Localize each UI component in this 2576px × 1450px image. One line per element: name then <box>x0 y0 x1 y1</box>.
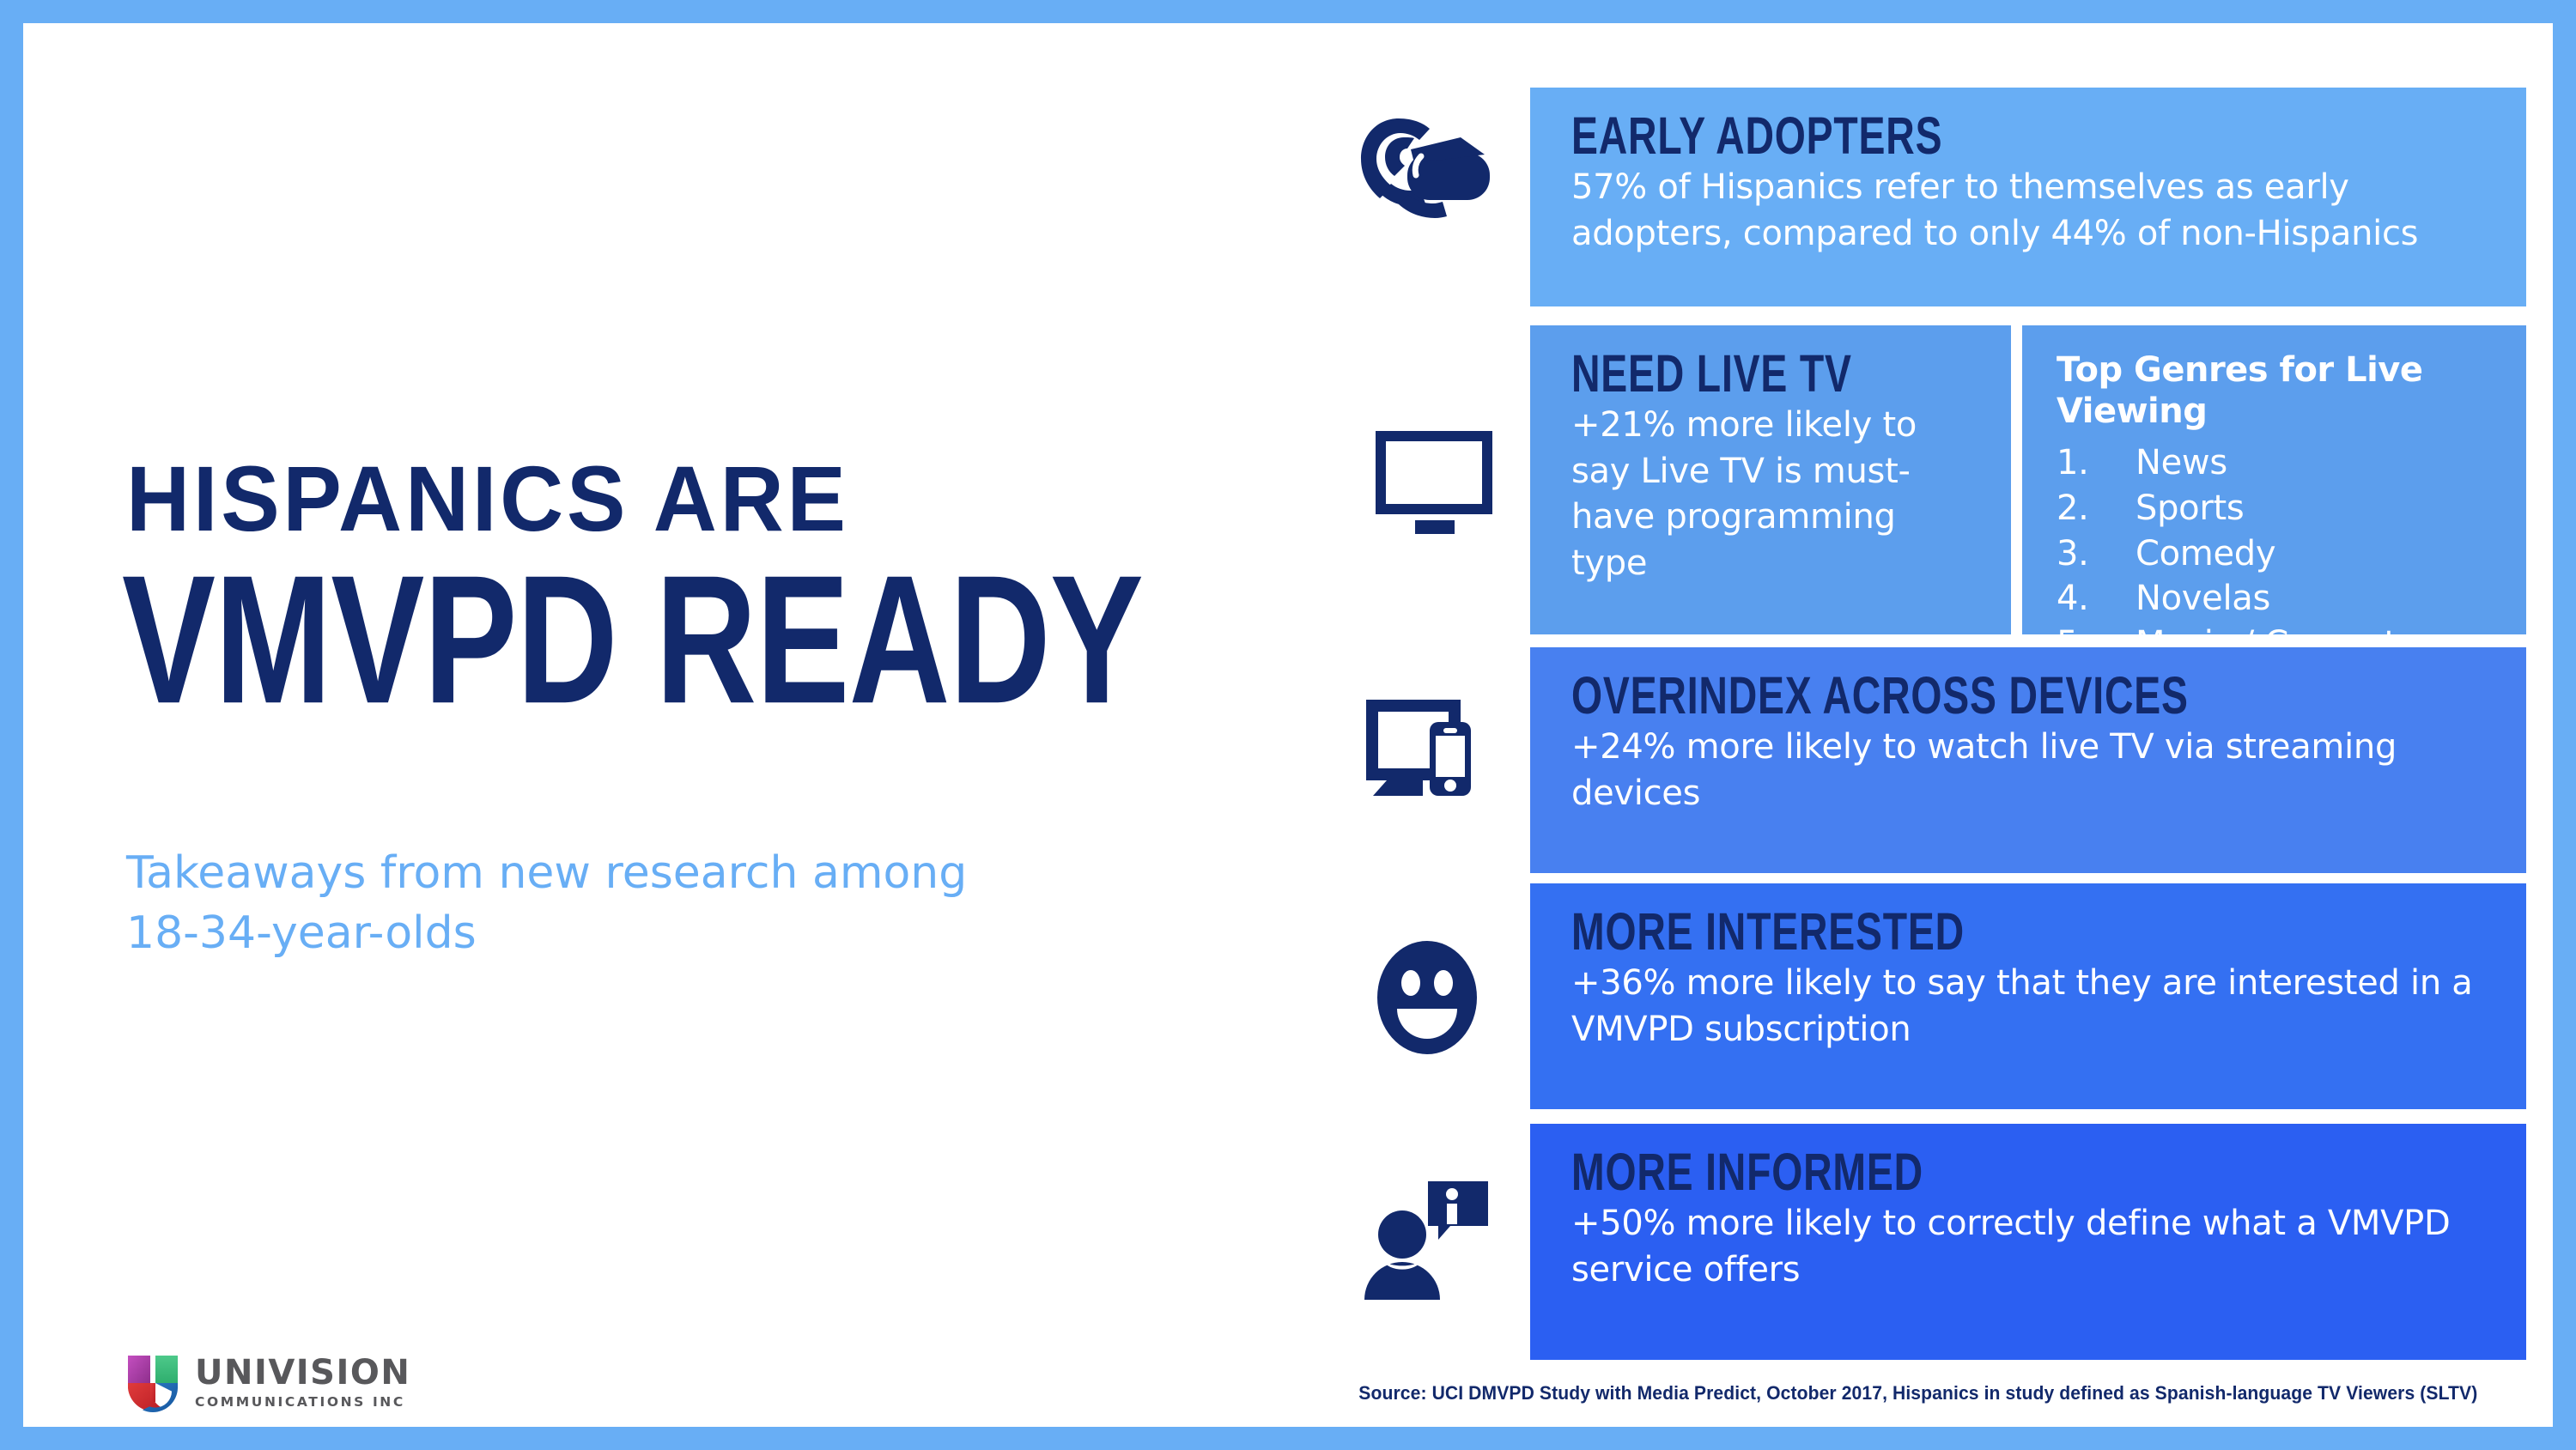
list-item: 1. News <box>2057 440 2497 486</box>
tv-monitor-icon <box>1352 420 1516 540</box>
panel-heading: OVERINDEX ACROSS DEVICES <box>1571 670 2312 722</box>
panel-body: +36% more likely to say that they are in… <box>1571 961 2497 1053</box>
panel-body: 57% of Hispanics refer to themselves as … <box>1571 165 2497 257</box>
list-item: 2. Sports <box>2057 486 2497 531</box>
logo-tagline: COMMUNICATIONS INC <box>195 1396 410 1410</box>
panel-body: +50% more likely to correctly define wha… <box>1571 1201 2497 1293</box>
list-item-number: 4. <box>2057 576 2136 622</box>
monitor-phone-icon <box>1346 695 1509 815</box>
list-item-label: Sports <box>2136 486 2244 531</box>
panel-need-live-tv: NEED LIVE TV +21% more likely to say Liv… <box>1530 325 2011 634</box>
list-item-label: Comedy <box>2136 531 2275 577</box>
list-item-number: 2. <box>2057 486 2136 531</box>
page-title-line2: VMVPD READY <box>122 549 1143 731</box>
panel-overindex-across-devices: OVERINDEX ACROSS DEVICES +24% more likel… <box>1530 647 2526 873</box>
vr-headset-icon <box>1346 113 1509 225</box>
list-item: 3. Comedy <box>2057 531 2497 577</box>
list-item-number: 3. <box>2057 531 2136 577</box>
panel-body: +24% more likely to watch live TV via st… <box>1571 725 2497 816</box>
headline-block: HISPANICS ARE VMVPD READY Takeaways from… <box>105 23 1307 1427</box>
list-item: 4. Novelas <box>2057 576 2497 622</box>
smiley-face-icon <box>1346 933 1509 1062</box>
genres-title: Top Genres for Live Viewing <box>2057 349 2497 432</box>
source-note: Source: UCI DMVPD Study with Media Predi… <box>1358 1382 2477 1404</box>
panel-top-genres: Top Genres for Live Viewing 1. News 2. S… <box>2022 325 2526 634</box>
list-item-label: News <box>2136 440 2227 486</box>
panel-heading: MORE INTERESTED <box>1571 906 2312 958</box>
logo-wordmark: UNIVISION <box>195 1356 410 1390</box>
panel-early-adopters: EARLY ADOPTERS 57% of Hispanics refer to… <box>1530 88 2526 306</box>
univision-u-icon <box>125 1352 181 1412</box>
page-title-line1: HISPANICS ARE <box>126 452 849 545</box>
univision-logo: UNIVISION COMMUNICATIONS INC <box>125 1352 410 1412</box>
genres-list: 1. News 2. Sports 3. Comedy 4. Novelas 5… <box>2057 440 2497 667</box>
page-subtitle: Takeaways from new research among 18-34-… <box>126 843 985 963</box>
panel-heading: EARLY ADOPTERS <box>1571 110 2312 162</box>
person-info-icon <box>1347 1169 1510 1311</box>
panel-body: +21% more likely to say Live TV is must-… <box>1571 403 1982 586</box>
panel-heading: MORE INFORMED <box>1571 1146 2312 1198</box>
list-item-number: 1. <box>2057 440 2136 486</box>
infographic-poster: HISPANICS ARE VMVPD READY Takeaways from… <box>0 0 2576 1450</box>
panel-more-informed: MORE INFORMED +50% more likely to correc… <box>1530 1124 2526 1360</box>
panel-more-interested: MORE INTERESTED +36% more likely to say … <box>1530 883 2526 1109</box>
list-item-label: Novelas <box>2136 576 2270 622</box>
panel-heading: NEED LIVE TV <box>1571 348 1899 400</box>
